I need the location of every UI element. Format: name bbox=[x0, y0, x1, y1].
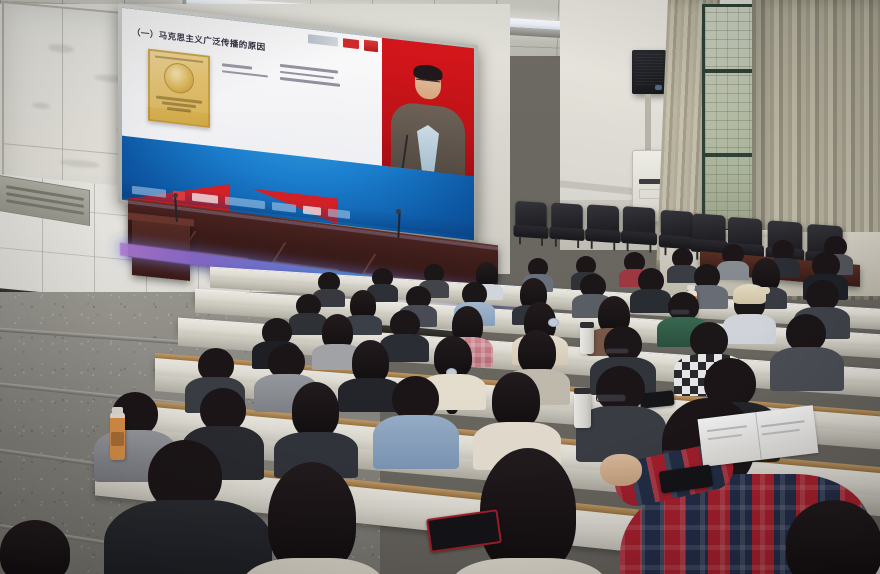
whiteboard-scuff bbox=[32, 102, 50, 110]
whiteboard-scuff bbox=[60, 158, 100, 169]
drink-bottle bbox=[110, 412, 125, 460]
front-chair[interactable] bbox=[514, 201, 549, 246]
thermos-cup bbox=[574, 392, 591, 428]
glasses-icon bbox=[605, 348, 629, 354]
ticker-course-name bbox=[225, 197, 265, 210]
ticker-program-title bbox=[192, 193, 218, 204]
front-chair[interactable] bbox=[585, 204, 621, 250]
slide-corner-logos bbox=[308, 33, 378, 52]
book-seal-emblem bbox=[164, 61, 194, 94]
microphone-head-2 bbox=[396, 209, 401, 214]
hair-scrunchie bbox=[548, 318, 559, 327]
microphone-head-1 bbox=[173, 193, 178, 198]
ticker-channel-logo bbox=[132, 186, 166, 198]
cap-brim bbox=[756, 287, 770, 294]
speaker-mount-bracket bbox=[645, 94, 651, 152]
glasses-icon bbox=[596, 394, 626, 402]
thermos-cup bbox=[580, 326, 594, 354]
glasses-icon bbox=[670, 309, 690, 315]
hoodie-torso bbox=[104, 500, 272, 574]
manifesto-book-graphic bbox=[148, 49, 210, 128]
lecturer-video-panel bbox=[382, 38, 434, 172]
front-chair[interactable] bbox=[549, 202, 584, 247]
slide-text-block-2 bbox=[280, 64, 342, 91]
whiteboard-scuff bbox=[48, 43, 74, 53]
ticker-partner-logo-2 bbox=[303, 206, 321, 216]
slide-logo-red bbox=[343, 38, 359, 49]
front-chair[interactable] bbox=[621, 206, 657, 252]
hand bbox=[600, 454, 642, 486]
lecture-hall-photo: （一）马克思主义广泛传播的原因 bbox=[0, 0, 880, 574]
loudspeaker-icon bbox=[632, 50, 666, 94]
slide-text-block-1 bbox=[222, 63, 270, 82]
ticker-partner-logo-3 bbox=[328, 208, 350, 219]
whiteboard-panel-divider bbox=[62, 9, 63, 203]
slide-logo-red-block bbox=[364, 40, 378, 53]
slide-logo-grey bbox=[308, 34, 338, 46]
ticker-partner-logo-1 bbox=[272, 202, 296, 213]
